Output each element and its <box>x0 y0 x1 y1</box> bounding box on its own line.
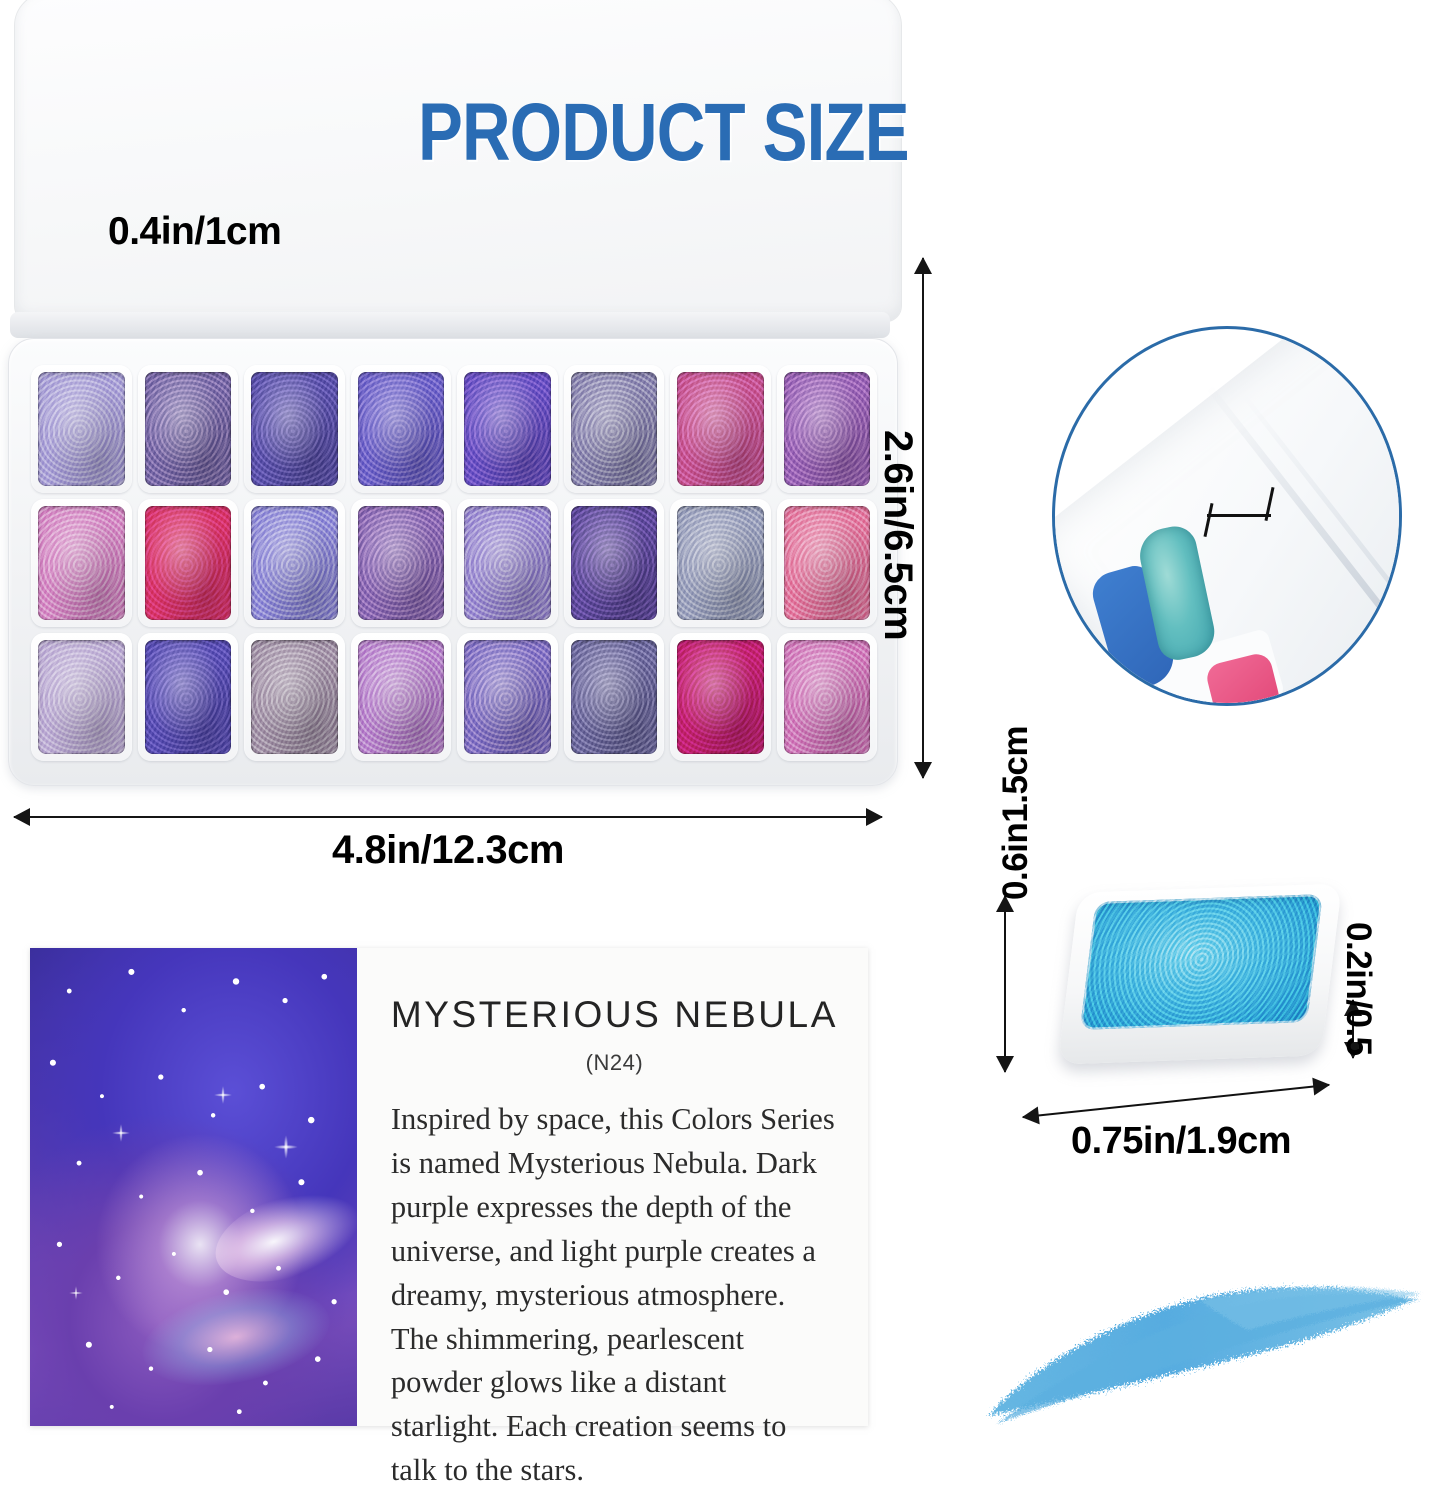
paint-pan <box>784 506 871 620</box>
pan-cell <box>670 633 771 761</box>
arrow-right-icon <box>866 808 883 826</box>
pan-cell <box>31 499 132 627</box>
paint-pan <box>38 372 125 486</box>
paint-pan <box>677 372 764 486</box>
page-title: PRODUCT SIZE <box>418 86 909 180</box>
paint-pan <box>251 506 338 620</box>
palette-tray <box>8 338 898 786</box>
arrow-up-icon <box>914 257 932 274</box>
paint-pan <box>251 372 338 486</box>
pan-cell <box>244 633 345 761</box>
pan-cell <box>351 365 452 493</box>
pan-width-label: 0.75in/1.9cm <box>1016 1120 1346 1163</box>
paint-pan <box>571 506 658 620</box>
arrow-left-icon <box>13 808 30 826</box>
paint-pan <box>358 640 445 754</box>
pan-cell <box>564 499 665 627</box>
pan-cell <box>777 499 878 627</box>
pan-height-dimension-line <box>1004 896 1006 1072</box>
pan-cell <box>457 499 558 627</box>
paint-pan <box>145 506 232 620</box>
pan-paint-surface <box>1080 894 1323 1030</box>
arrow-down-icon <box>914 762 932 779</box>
sparkle-icon <box>66 1283 86 1303</box>
height-dimension-label: 2.6in/6.5cm <box>875 430 920 640</box>
height-dimension-line <box>922 258 924 778</box>
arrow-down-icon <box>996 1056 1014 1073</box>
paint-pan <box>677 506 764 620</box>
galaxy-artwork <box>30 948 357 1426</box>
single-pan <box>1056 883 1342 1078</box>
paint-swatch-stroke <box>960 1248 1430 1438</box>
product-series-code: (N24) <box>391 1050 838 1076</box>
pan-cell <box>457 365 558 493</box>
pan-cell <box>138 365 239 493</box>
paint-pan <box>464 372 551 486</box>
paint-pan <box>38 506 125 620</box>
paint-pan <box>784 372 871 486</box>
paint-pan <box>464 506 551 620</box>
product-series-name: MYSTERIOUS NEBULA <box>391 994 838 1036</box>
sparkle-icon <box>210 1082 236 1108</box>
width-dimension-label: 4.8in/12.3cm <box>0 828 896 873</box>
pan-grid <box>31 365 877 761</box>
palette-case-lid-rim <box>10 312 890 338</box>
pan-cell <box>31 365 132 493</box>
pan-height-label: 0.6in1.5cm <box>996 726 1036 900</box>
arrow-right-icon <box>1312 1076 1331 1096</box>
pan-cell <box>138 633 239 761</box>
paint-pan <box>571 372 658 486</box>
paint-pan <box>358 506 445 620</box>
pan-cell <box>138 499 239 627</box>
product-description-card: MYSTERIOUS NEBULA (N24) Inspired by spac… <box>30 948 868 1426</box>
infographic-canvas: PRODUCT SIZE <box>0 0 1445 1456</box>
paint-pan <box>145 372 232 486</box>
pan-cell <box>244 365 345 493</box>
pan-thickness-label: 0.2in/0.5 <box>1338 922 1378 1056</box>
pan-cell <box>244 499 345 627</box>
star-field <box>30 948 357 1426</box>
paint-pan <box>358 372 445 486</box>
sparkle-icon <box>269 1130 303 1164</box>
sparkle-icon <box>108 1120 134 1146</box>
pan-cell <box>351 633 452 761</box>
card-text-column: MYSTERIOUS NEBULA (N24) Inspired by spac… <box>357 948 868 1426</box>
inset-measure-bracket <box>1207 497 1271 535</box>
pan-detail-group <box>1052 880 1352 1095</box>
paint-pan <box>464 640 551 754</box>
product-description-text: Inspired by space, this Colors Series is… <box>391 1098 838 1493</box>
pan-cell <box>564 633 665 761</box>
case-thickness-inset <box>1052 326 1402 706</box>
paint-pan <box>784 640 871 754</box>
pan-cell <box>564 365 665 493</box>
pan-cell <box>351 499 452 627</box>
pan-cell <box>457 633 558 761</box>
pan-cell <box>31 633 132 761</box>
paint-pan <box>251 640 338 754</box>
pan-cell <box>670 365 771 493</box>
paint-pan <box>145 640 232 754</box>
paint-pan <box>571 640 658 754</box>
inset-dimension-label: 0.4in/1cm <box>108 210 281 254</box>
bracket-line <box>1207 514 1271 517</box>
paint-pan <box>677 640 764 754</box>
width-dimension-line <box>14 816 882 818</box>
pan-cell <box>777 365 878 493</box>
pan-cell <box>670 499 771 627</box>
paint-pan <box>38 640 125 754</box>
pan-cell <box>777 633 878 761</box>
